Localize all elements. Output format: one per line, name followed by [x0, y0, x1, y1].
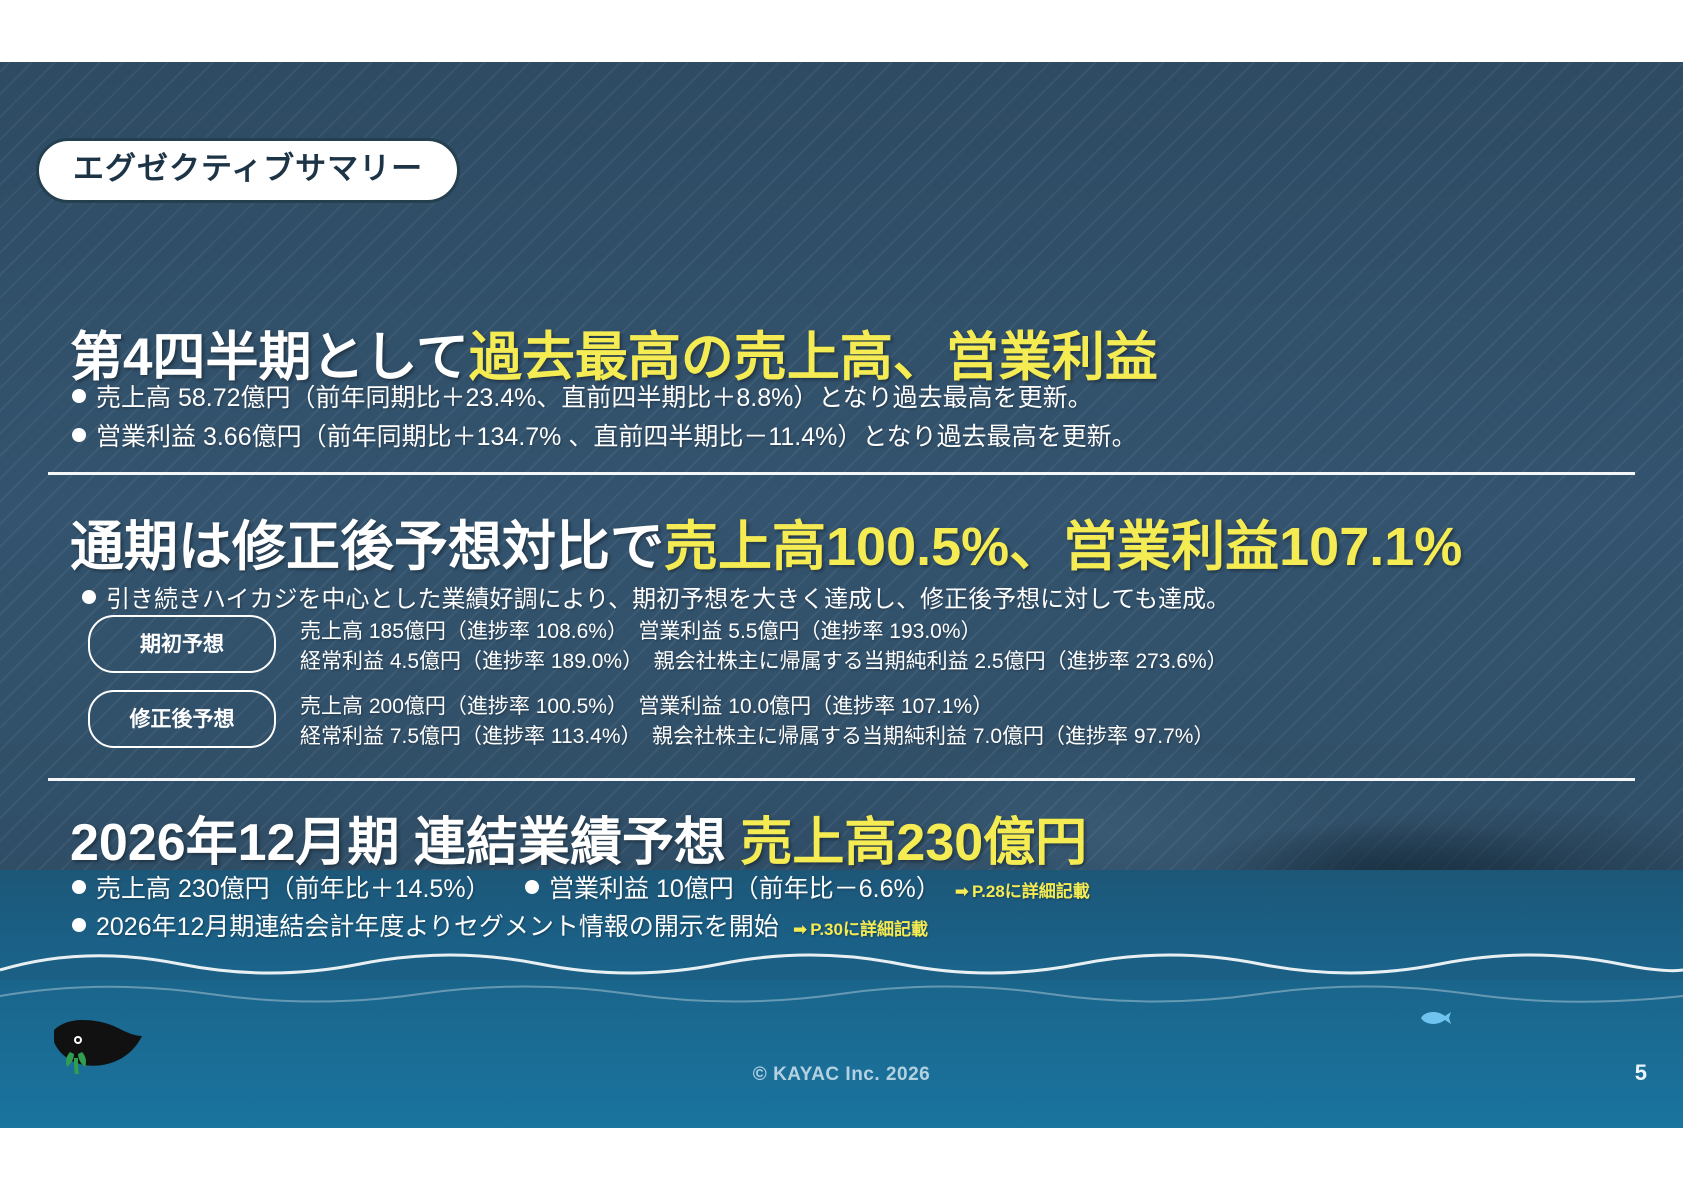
- copyright-text: © KAYAC Inc. 2026: [0, 1064, 1683, 1086]
- arrow-right-icon: ➡: [793, 920, 807, 939]
- section-3-heading-plain: 2026年12月期 連結業績予想: [70, 814, 740, 872]
- bullet-dot-icon: [72, 389, 86, 403]
- section-1-bullet-2: 営業利益 3.66億円（前年同期比＋134.7% 、直前四半期比－11.4%）と…: [72, 417, 1137, 453]
- forecast-values-initial: 売上高 185億円（進捗率 108.6%） 営業利益 5.5億円（進捗率 193…: [300, 615, 1228, 677]
- section-1-bullet-1: 売上高 58.72億円（前年同期比＋23.4%、直前四半期比＋8.8%）となり過…: [72, 378, 1093, 414]
- page-link-30[interactable]: ➡P.30に詳細記載: [793, 920, 928, 939]
- forecast-row-revised: 修正後予想 売上高 200億円（進捗率 100.5%） 営業利益 10.0億円（…: [88, 690, 1214, 752]
- section-1-bullet-2-text: 営業利益 3.66億円（前年同期比＋134.7% 、直前四半期比－11.4%）と…: [96, 423, 1137, 451]
- wave-crest-secondary-icon: [0, 980, 1683, 1008]
- section-3-bullet-1-text: 売上高 230億円（前年比＋14.5%）: [96, 875, 491, 903]
- forecast-label-initial: 期初予想: [88, 615, 276, 673]
- bullet-dot-icon: [72, 880, 86, 894]
- wave-crest-icon: [0, 946, 1683, 980]
- section-2-heading-plain: 通期は修正後予想対比で: [70, 517, 664, 577]
- slide-title-badge: エグゼクティブサマリー: [36, 138, 460, 203]
- forecast-row-initial: 期初予想 売上高 185億円（進捗率 108.6%） 営業利益 5.5億円（進捗…: [88, 615, 1228, 677]
- page-link-28-label: P.28に詳細記載: [972, 882, 1090, 901]
- slide-title-badge-label: エグゼクティブサマリー: [73, 151, 423, 186]
- section-2-heading-highlight: 売上高100.5%、営業利益107.1%: [664, 517, 1462, 577]
- arrow-right-icon: ➡: [955, 882, 969, 901]
- forecast-revised-line-1: 売上高 200億円（進捗率 100.5%） 営業利益 10.0億円（進捗率 10…: [300, 692, 1214, 722]
- hillside-silhouette-near: [1173, 777, 1603, 872]
- forecast-revised-line-2: 経常利益 7.5億円（進捗率 113.4%） 親会社株主に帰属する当期純利益 7…: [300, 722, 1214, 752]
- page-link-28[interactable]: ➡P.28に詳細記載: [955, 882, 1090, 901]
- section-1-bullet-1-text: 売上高 58.72億円（前年同期比＋23.4%、直前四半期比＋8.8%）となり過…: [96, 384, 1093, 412]
- section-2-bullet-1: 引き続きハイカジを中心とした業績好調により、期初予想を大きく達成し、修正後予想に…: [82, 579, 1230, 614]
- bullet-dot-icon: [525, 880, 539, 894]
- section-3-bullet-1: 売上高 230億円（前年比＋14.5%）: [72, 869, 491, 905]
- bullet-dot-icon: [82, 590, 96, 604]
- fish-icon: [1417, 1008, 1453, 1028]
- section-3-heading-highlight: 売上高230億円: [740, 814, 1087, 872]
- bullet-dot-icon: [72, 428, 86, 442]
- forecast-values-revised: 売上高 200億円（進捗率 100.5%） 営業利益 10.0億円（進捗率 10…: [300, 690, 1214, 752]
- slide-canvas: エグゼクティブサマリー 第4四半期として過去最高の売上高、営業利益 売上高 58…: [0, 62, 1683, 1128]
- bullet-dot-icon: [72, 918, 86, 932]
- page-link-30-label: P.30に詳細記載: [810, 920, 928, 939]
- section-3-bullet-1-secondary-text: 営業利益 10億円（前年比－6.6%）: [549, 875, 941, 903]
- page-number: 5: [1635, 1060, 1647, 1086]
- section-2-heading: 通期は修正後予想対比で売上高100.5%、営業利益107.1%: [70, 502, 1462, 581]
- section-3-bullet-2-text: 2026年12月期連結会計年度よりセグメント情報の開示を開始: [96, 913, 779, 941]
- section-divider-1: [48, 472, 1635, 475]
- section-3-heading: 2026年12月期 連結業績予想 売上高230億円: [70, 800, 1087, 875]
- forecast-initial-line-2: 経常利益 4.5億円（進捗率 189.0%） 親会社株主に帰属する当期純利益 2…: [300, 647, 1228, 677]
- forecast-initial-line-1: 売上高 185億円（進捗率 108.6%） 営業利益 5.5億円（進捗率 193…: [300, 617, 1228, 647]
- section-3-bullet-2: 2026年12月期連結会計年度よりセグメント情報の開示を開始➡P.30に詳細記載: [72, 907, 928, 943]
- forecast-label-revised: 修正後予想: [88, 690, 276, 748]
- section-divider-2: [48, 778, 1635, 781]
- section-2-bullet-1-text: 引き続きハイカジを中心とした業績好調により、期初予想を大きく達成し、修正後予想に…: [106, 586, 1230, 613]
- section-3-bullet-1-secondary: 営業利益 10億円（前年比－6.6%）➡P.28に詳細記載: [525, 869, 1090, 905]
